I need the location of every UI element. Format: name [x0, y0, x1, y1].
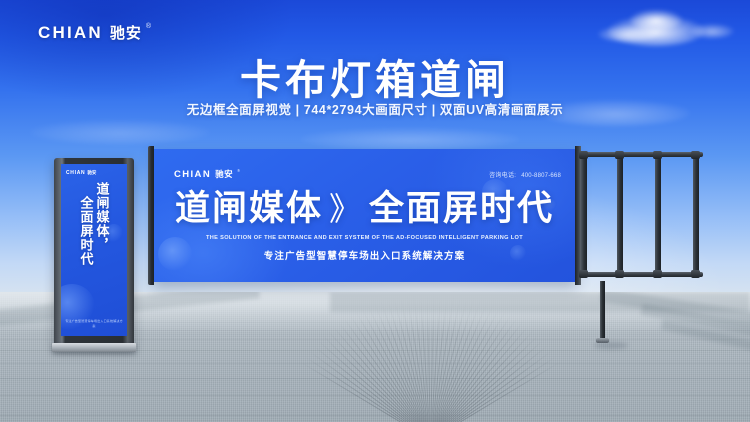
chevron-double-right-icon: 》	[323, 191, 369, 227]
banner-english-line: THE SOLUTION OF THE ENTRANCE AND EXIT SY…	[152, 235, 577, 241]
frame-joint-node	[653, 151, 662, 159]
barrier-gate-arm: CHIAN 驰安 ® 咨询电话:400-8807-668 道闸媒体》全面屏时代 …	[148, 146, 618, 288]
lightbox-logo-mark: CHIAN	[66, 170, 85, 176]
banner-headline: 道闸媒体》全面屏时代	[152, 191, 577, 226]
brand-logo-mark: CHIAN	[38, 23, 103, 43]
banner-contact-phone: 咨询电话:400-8807-668	[489, 170, 561, 179]
banner-headline-left: 道闸媒体	[175, 189, 323, 228]
barrier-support-leg	[600, 281, 605, 341]
vertical-lightbox: CHIAN 驰安 道闸媒体， 全面屏时代 专注广告型智慧停车场出入口系统解决方案	[54, 158, 134, 348]
frame-joint-node	[579, 151, 588, 159]
banner-headline-right: 全面屏时代	[369, 189, 554, 228]
banner-chinese-line: 专注广告型智慧停车场出入口系统解决方案	[152, 248, 577, 262]
barrier-leg-shadow	[594, 342, 628, 349]
lightbox-footnote: 专注广告型智慧停车场出入口系统解决方案	[65, 319, 123, 328]
frame-vertical-bar	[655, 154, 661, 276]
frame-joint-node	[615, 270, 624, 278]
frame-rail-bottom	[581, 272, 703, 277]
lightbox-screen: CHIAN 驰安 道闸媒体， 全面屏时代 专注广告型智慧停车场出入口系统解决方案	[61, 164, 127, 336]
page-subtitle: 无边框全面屏视觉 | 744*2794大画面尺寸 | 双面UV高清画面展示	[0, 99, 750, 118]
frame-joint-node	[691, 151, 700, 159]
frame-joint-node	[691, 270, 700, 278]
lightbox-base	[52, 343, 136, 352]
frame-joint-node	[579, 270, 588, 278]
frame-rail-top	[581, 152, 703, 157]
frame-joint-node	[653, 270, 662, 278]
brand-logo-cn: 驰安	[110, 22, 142, 43]
lightbox-logo: CHIAN 驰安	[66, 170, 96, 176]
cloud-icon	[30, 120, 210, 144]
lightbox-logo-cn: 驰安	[87, 170, 96, 176]
cloud-icon	[598, 26, 658, 42]
lightbox-vertical-text: 道闸媒体， 全面屏时代	[61, 182, 127, 310]
pavement-course-line	[0, 395, 750, 396]
barrier-metal-frame	[581, 152, 703, 279]
brand-logo-header: CHIAN 驰安 ®	[38, 22, 151, 43]
frame-vertical-bar	[693, 154, 699, 276]
cloud-icon	[690, 24, 734, 38]
lightbox-text-column-1: 道闸媒体，	[96, 182, 109, 310]
banner-left-edge	[148, 146, 154, 285]
banner-panel: CHIAN 驰安 ® 咨询电话:400-8807-668 道闸媒体》全面屏时代 …	[152, 149, 577, 282]
lightbox-text-column-2: 全面屏时代	[80, 182, 93, 310]
frame-joint-node	[615, 151, 624, 159]
banner-logo-cn: 驰安	[215, 168, 233, 180]
banner-logo: CHIAN 驰安 ®	[174, 168, 240, 180]
pavement-course-line	[0, 363, 750, 364]
banner-logo-mark: CHIAN	[174, 169, 211, 180]
page-title: 卡布灯箱道闸	[0, 46, 750, 106]
registered-trademark-icon: ®	[237, 168, 240, 173]
pavement-course-line	[0, 415, 750, 416]
frame-vertical-bar	[617, 154, 623, 276]
product-photo-scene: CHIAN 驰安 ® 卡布灯箱道闸 无边框全面屏视觉 | 744*2794大画面…	[0, 0, 750, 422]
frame-vertical-bar	[581, 154, 587, 276]
pavement-course-line	[0, 378, 750, 379]
phone-label: 咨询电话:	[489, 173, 516, 179]
registered-trademark-icon: ®	[146, 23, 151, 30]
phone-number: 400-8807-668	[521, 173, 561, 179]
